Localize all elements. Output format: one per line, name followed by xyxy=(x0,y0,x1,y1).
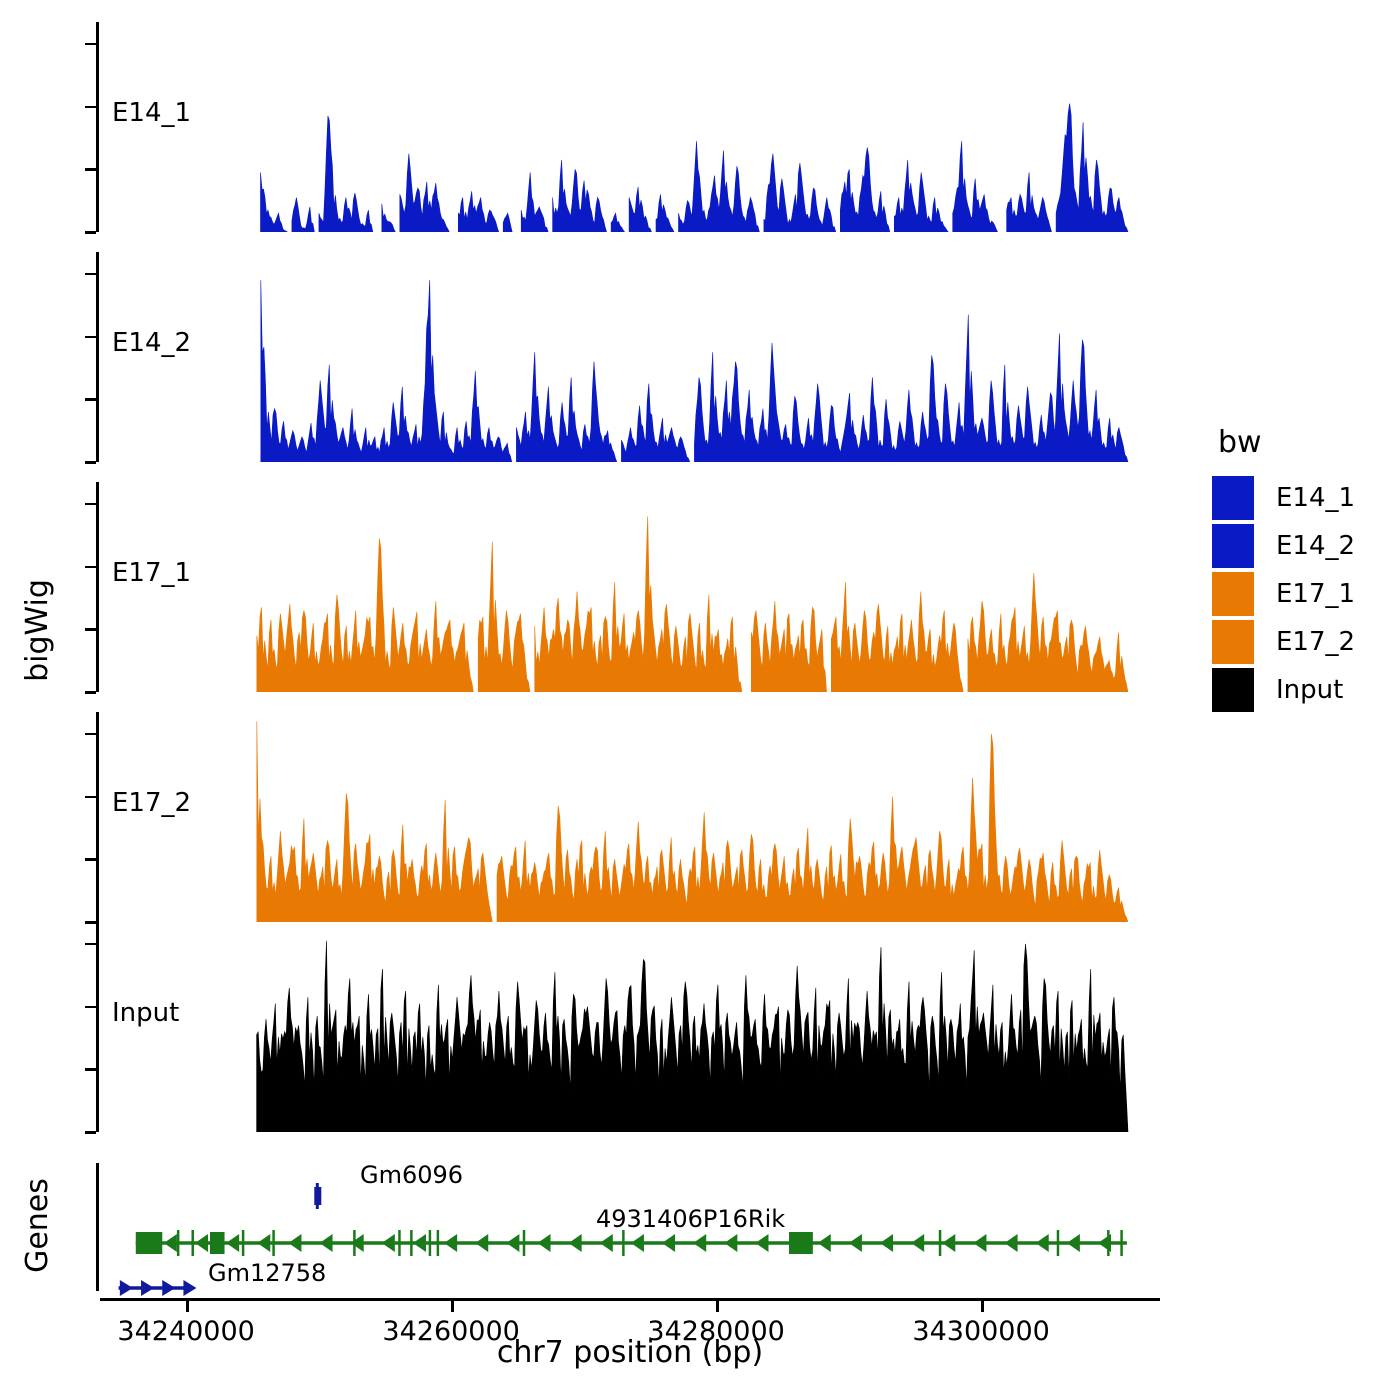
y-tick xyxy=(85,858,96,861)
y-tick xyxy=(85,503,96,506)
y-axis-spine xyxy=(96,252,99,462)
y-tick xyxy=(85,231,96,234)
legend-label: E17_2 xyxy=(1276,627,1355,657)
x-tick xyxy=(186,1301,189,1312)
signal-panel-e14_1: 0123E14_1 xyxy=(0,22,1200,252)
y-tick xyxy=(85,796,96,799)
signal-panel-input: 0123Input xyxy=(0,922,1200,1152)
gene-models xyxy=(100,1155,1160,1300)
legend-item-e14_2[interactable]: E14_2 xyxy=(1212,522,1392,570)
signal-panel-e17_2: 0123E17_2 xyxy=(0,712,1200,942)
signal-panel-e17_1: 0123E17_1 xyxy=(0,482,1200,712)
x-tick xyxy=(981,1301,984,1312)
legend-label: E14_1 xyxy=(1276,483,1355,513)
y-tick xyxy=(85,1131,96,1134)
y-axis-spine xyxy=(96,712,99,922)
y-tick xyxy=(85,43,96,46)
x-axis-label: chr7 position (bp) xyxy=(100,1335,1160,1370)
y-tick xyxy=(85,733,96,736)
legend-label: E14_2 xyxy=(1276,531,1355,561)
genome-browser-figure: bigWig Genes 0123E14_10123E14_20123E17_1… xyxy=(0,0,1400,1400)
y-tick xyxy=(85,336,96,339)
y-tick xyxy=(85,106,96,109)
y-tick xyxy=(85,461,96,464)
x-tick xyxy=(716,1301,719,1312)
plot-area-e14_2 xyxy=(100,252,1160,462)
gene-track-spine xyxy=(96,1163,99,1291)
y-tick xyxy=(85,566,96,569)
y-tick xyxy=(85,398,96,401)
signal-panel-e14_2: 0123E14_2 xyxy=(0,252,1200,482)
y-axis-spine xyxy=(96,22,99,232)
plot-area-e17_1 xyxy=(100,482,1160,692)
legend: bw E14_1E14_2E17_1E17_2Input xyxy=(1212,425,1392,714)
y-tick xyxy=(85,1068,96,1071)
plot-area-e17_2 xyxy=(100,712,1160,922)
y-axis-spine xyxy=(96,482,99,692)
x-tick xyxy=(451,1301,454,1312)
legend-label: Input xyxy=(1276,675,1343,705)
y-axis-spine xyxy=(96,922,99,1132)
legend-swatch xyxy=(1212,572,1254,616)
gene-track-panel: Gm6096 4931406P16Rik Gm12758 xyxy=(0,1155,1200,1300)
legend-item-input[interactable]: Input xyxy=(1212,666,1392,714)
legend-label: E17_1 xyxy=(1276,579,1355,609)
legend-swatch xyxy=(1212,620,1254,664)
legend-swatch xyxy=(1212,668,1254,712)
legend-item-e17_2[interactable]: E17_2 xyxy=(1212,618,1392,666)
plot-area-input xyxy=(100,922,1160,1132)
y-tick xyxy=(85,691,96,694)
x-axis-line xyxy=(100,1298,1160,1301)
y-tick xyxy=(85,628,96,631)
legend-item-e14_1[interactable]: E14_1 xyxy=(1212,474,1392,522)
legend-title: bw xyxy=(1218,425,1392,460)
legend-item-e17_1[interactable]: E17_1 xyxy=(1212,570,1392,618)
plot-area-e14_1 xyxy=(100,22,1160,232)
y-tick xyxy=(85,943,96,946)
y-tick xyxy=(85,273,96,276)
y-tick xyxy=(85,1006,96,1009)
y-tick xyxy=(85,168,96,171)
legend-swatch xyxy=(1212,476,1254,520)
legend-swatch xyxy=(1212,524,1254,568)
